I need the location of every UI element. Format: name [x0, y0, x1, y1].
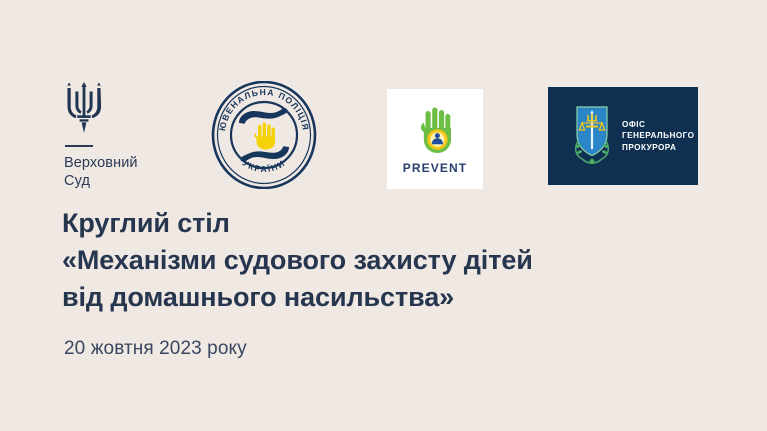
prevent-label: PREVENT: [403, 161, 467, 175]
juvenile-police-roundel-icon: ЮВЕНАЛЬНА ПОЛІЦІЯ УКРАЇНИ: [211, 81, 317, 189]
supreme-court-divider: [65, 145, 93, 147]
prosecutor-crest-icon: [571, 105, 613, 167]
logo-prevent: PREVENT: [387, 89, 483, 189]
event-title: Круглий стіл «Механізми судового захисту…: [62, 205, 722, 316]
prosecutor-general-label: ОФІС ГЕНЕРАЛЬНОГО ПРОКУРОРА: [622, 119, 694, 154]
event-date: 20 жовтня 2023 року: [64, 336, 247, 362]
logo-juvenile-police: ЮВЕНАЛЬНА ПОЛІЦІЯ УКРАЇНИ: [211, 81, 317, 189]
logo-strip: Верховний Суд ЮВЕНАЛЬНА ПОЛІЦІЯ УКРАЇ: [0, 70, 767, 195]
supreme-court-label: Верховний Суд: [64, 154, 190, 190]
ukraine-trident-icon: [64, 82, 104, 134]
svg-text:УКРАЇНИ: УКРАЇНИ: [241, 158, 288, 174]
green-hand-icon: [409, 104, 461, 156]
logo-supreme-court: Верховний Суд: [60, 82, 190, 197]
logo-prosecutor-general: ОФІС ГЕНЕРАЛЬНОГО ПРОКУРОРА: [548, 87, 698, 185]
